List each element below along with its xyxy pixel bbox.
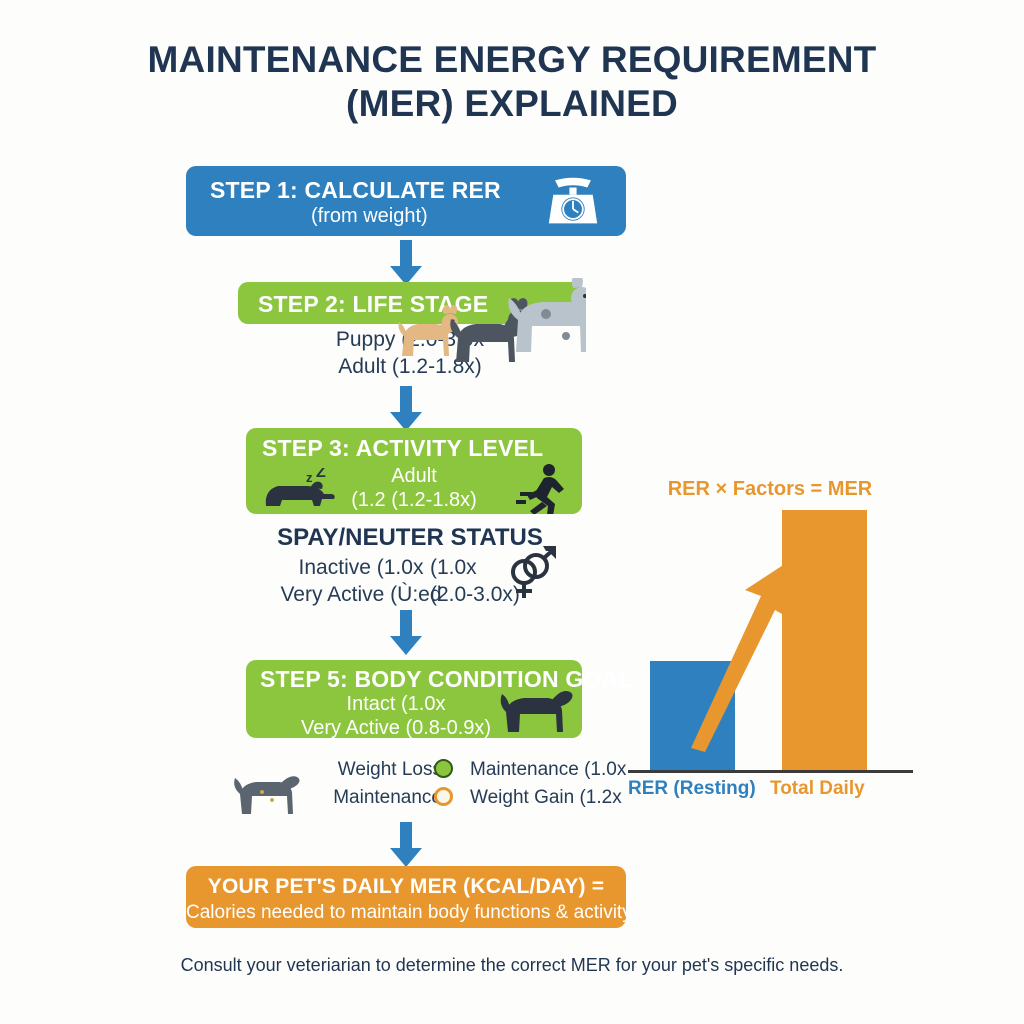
footer-note: Consult your veteriarian to determine th… [0, 955, 1024, 976]
legend-dog-icon [232, 772, 306, 816]
step-5-box[interactable]: STEP 5: BODY CONDITION GOAL Intact (1.0x… [246, 660, 582, 738]
result-heading: YOUR PET'S DAILY MER (KCAL/DAY) = [186, 875, 626, 899]
dog-silhouette-icon [500, 688, 574, 734]
flow-arrow-4 [389, 822, 423, 868]
sleeping-dog-icon: z Z [262, 468, 338, 510]
chart-label-rer: RER (Resting) [628, 778, 756, 800]
legend-dot-orange [434, 787, 453, 806]
step-3-heading: STEP 3: ACTIVITY LEVEL [262, 435, 543, 462]
step-3-box[interactable]: STEP 3: ACTIVITY LEVEL Adult (1.2 (1.2-1… [246, 428, 582, 514]
title-line-1: MAINTENANCE ENERGY REQUIREMENT [148, 39, 877, 80]
step-1-heading: STEP 1: CALCULATE RER [210, 177, 501, 204]
flow-arrow-2 [389, 386, 423, 432]
growth-arrow-icon [685, 552, 805, 752]
result-box[interactable]: YOUR PET'S DAILY MER (KCAL/DAY) = Calori… [186, 866, 626, 928]
legend-dot-green [434, 759, 453, 778]
legend-colB-line-2: Weight Gain (1.2x [470, 784, 620, 812]
title-line-2: (MER) EXPLAINED [0, 82, 1024, 126]
step-1-subtext: (from weight) [311, 204, 428, 228]
dog-trio-illustration [396, 278, 586, 378]
legend-column-b: Maintenance (1.0x Weight Gain (1.2x [470, 756, 620, 811]
mer-bar-chart: RER × Factors = MER RER (Resting) Total … [620, 470, 920, 830]
chart-axis-line [628, 770, 913, 773]
step-1-box[interactable]: STEP 1: CALCULATE RER (from weight) [186, 166, 626, 236]
page-title: MAINTENANCE ENERGY REQUIREMENT (MER) EXP… [0, 38, 1024, 125]
chart-label-total: Total Daily [770, 778, 865, 800]
svg-text:Z: Z [316, 468, 326, 481]
svg-text:z: z [306, 470, 313, 485]
legend-colA-line-1: Weight Loss [312, 756, 442, 784]
step-5-heading: STEP 5: BODY CONDITION GOAL [260, 666, 633, 693]
legend-colB-line-1: Maintenance (1.0x [470, 756, 620, 784]
flow-arrow-3 [389, 610, 423, 656]
result-subtext: Calories needed to maintain body functio… [186, 901, 626, 924]
chart-plot-area [630, 510, 910, 770]
chart-title: RER × Factors = MER [620, 478, 920, 501]
running-person-icon [516, 462, 568, 514]
infographic-canvas: MAINTENANCE ENERGY REQUIREMENT (MER) EXP… [0, 0, 1024, 1024]
gender-symbol-icon [506, 546, 558, 602]
kitchen-scale-icon [546, 175, 600, 227]
legend-colA-line-2: Maintenance [312, 784, 442, 812]
legend-column-a: Weight Loss Maintenance [312, 756, 442, 811]
